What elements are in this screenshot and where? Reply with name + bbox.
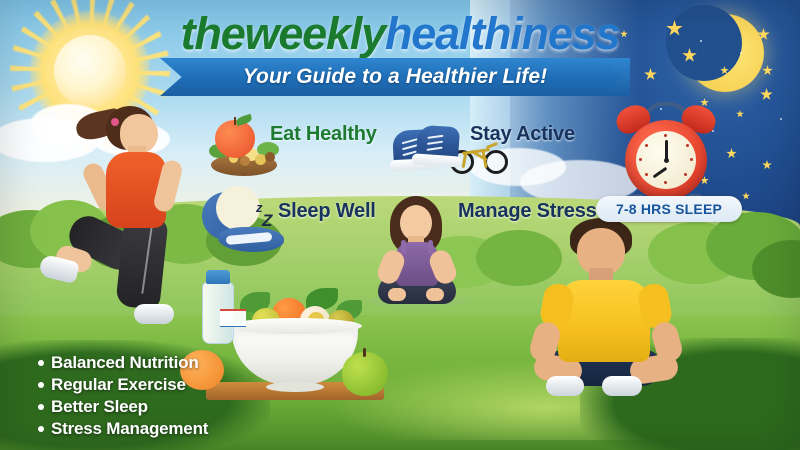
bullet-label: Balanced Nutrition bbox=[51, 353, 199, 373]
title-part-one: theweekly bbox=[181, 8, 385, 59]
fruit-bowl-illustration bbox=[188, 278, 394, 408]
feature-label-sleep-well: Sleep Well bbox=[278, 200, 376, 223]
list-item: Regular Exercise bbox=[38, 374, 208, 396]
bullet-label: Regular Exercise bbox=[51, 375, 186, 395]
feature-label-stay-active: Stay Active bbox=[470, 123, 575, 146]
title-part-two: healthiness bbox=[385, 8, 619, 59]
tagline-text: Your Guide to a Healthier Life! bbox=[243, 65, 548, 89]
list-item: Balanced Nutrition bbox=[38, 352, 208, 374]
bullet-label: Stress Management bbox=[51, 419, 208, 439]
bullet-icon bbox=[38, 404, 44, 410]
list-item: Better Sleep bbox=[38, 396, 208, 418]
tagline-ribbon: Your Guide to a Healthier Life! bbox=[160, 58, 630, 96]
list-item: Stress Management bbox=[38, 418, 208, 440]
running-woman-illustration bbox=[62, 98, 202, 328]
zz-large: Z bbox=[262, 211, 272, 231]
meditating-man-illustration bbox=[532, 218, 678, 408]
bullet-icon bbox=[38, 382, 44, 388]
bullet-label: Better Sleep bbox=[51, 397, 148, 417]
feature-label-eat-healthy: Eat Healthy bbox=[270, 123, 377, 146]
alarm-clock-icon bbox=[614, 106, 718, 204]
moon-pillow-icon: z Z bbox=[200, 190, 286, 252]
sneakers-icon bbox=[393, 118, 465, 170]
status-badge: 7-8 HRS SLEEP bbox=[596, 196, 742, 222]
health-poster: theweeklyhealthiness Your Guide to a Hea… bbox=[0, 0, 800, 450]
feature-label-manage-stress: Manage Stress bbox=[458, 200, 597, 223]
bullet-icon bbox=[38, 360, 44, 366]
benefits-list: Balanced Nutrition Regular Exercise Bett… bbox=[38, 352, 208, 440]
water-bottle-icon bbox=[202, 282, 234, 344]
page-title: theweeklyhealthiness bbox=[0, 8, 800, 60]
badge-text: 7-8 HRS SLEEP bbox=[616, 201, 722, 217]
bullet-icon bbox=[38, 426, 44, 432]
